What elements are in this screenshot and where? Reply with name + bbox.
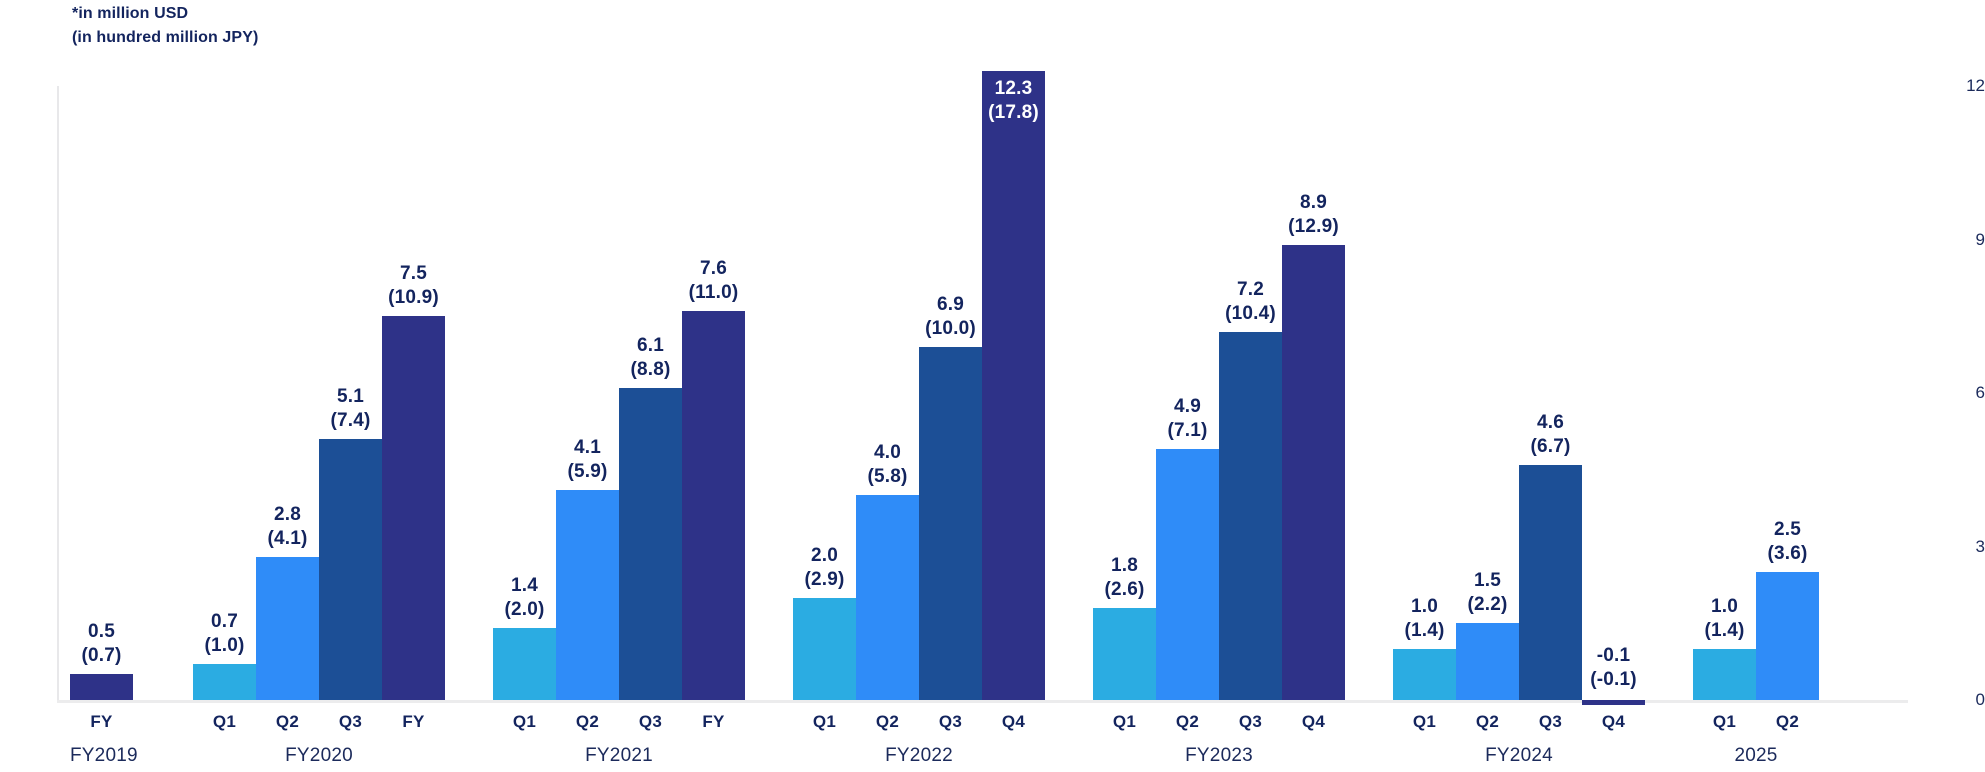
x-tick-FY2024-Q4: Q4	[1582, 712, 1645, 732]
bar-value-usd: 7.6	[689, 257, 739, 281]
bar-value-usd: 2.8	[267, 503, 307, 527]
bar-FY2023-Q2[interactable]: 4.9(7.1)	[1156, 449, 1219, 700]
y-axis-tick-0: 0	[1945, 690, 1985, 710]
bar-value-label: 4.1(5.9)	[567, 436, 607, 484]
bar-value-usd: 1.0	[1704, 595, 1744, 619]
bar-2025-Q2[interactable]: 2.5(3.6)	[1756, 572, 1819, 700]
group-label-FY2023: FY2023	[1093, 745, 1345, 767]
bar-FY2021-FY[interactable]: 7.6(11.0)	[682, 311, 745, 700]
bar-value-usd: 4.6	[1530, 411, 1570, 435]
bar-value-usd: 0.5	[81, 620, 121, 644]
bar-value-label: 2.0(2.9)	[804, 544, 844, 592]
bar-value-jpy: (10.4)	[1225, 302, 1276, 326]
bar-value-jpy: (8.8)	[630, 358, 670, 382]
x-tick-FY2022-Q3: Q3	[919, 712, 982, 732]
bar-value-label: -0.1(-0.1)	[1590, 644, 1637, 692]
x-tick-2025-Q2: Q2	[1756, 712, 1819, 732]
y-axis-tick-6: 6	[1945, 383, 1985, 403]
bar-FY2020-Q1[interactable]: 0.7(1.0)	[193, 664, 256, 700]
bar-value-jpy: (7.4)	[330, 409, 370, 433]
bar-FY2023-Q3[interactable]: 7.2(10.4)	[1219, 332, 1282, 700]
x-tick-FY2023-Q1: Q1	[1093, 712, 1156, 732]
y-axis-tick-12: 12	[1945, 76, 1985, 96]
bar-value-label: 4.6(6.7)	[1530, 411, 1570, 459]
bar-value-usd: 8.9	[1288, 191, 1339, 215]
x-tick-FY2024-Q3: Q3	[1519, 712, 1582, 732]
x-tick-FY2021-FY: FY	[682, 712, 745, 732]
bar-value-label: 1.8(2.6)	[1104, 554, 1144, 602]
x-tick-FY2022-Q1: Q1	[793, 712, 856, 732]
bar-value-jpy: (5.9)	[567, 460, 607, 484]
bar-value-jpy: (4.1)	[267, 527, 307, 551]
bar-value-jpy: (5.8)	[867, 465, 907, 489]
bar-FY2021-Q2[interactable]: 4.1(5.9)	[556, 490, 619, 700]
group-label-FY2020: FY2020	[193, 745, 445, 767]
group-label-FY2021: FY2021	[493, 745, 745, 767]
bar-FY2024-Q4[interactable]: -0.1(-0.1)	[1582, 700, 1645, 705]
bar-value-usd: 7.2	[1225, 278, 1276, 302]
bar-value-jpy: (11.0)	[689, 281, 739, 305]
x-tick-FY2022-Q4: Q4	[982, 712, 1045, 732]
bar-value-usd: -0.1	[1590, 644, 1637, 668]
bar-FY2020-Q3[interactable]: 5.1(7.4)	[319, 439, 382, 700]
x-tick-2025-Q1: Q1	[1693, 712, 1756, 732]
bar-value-usd: 4.1	[567, 436, 607, 460]
bar-value-label: 1.0(1.4)	[1404, 595, 1444, 643]
bar-value-label: 7.2(10.4)	[1225, 278, 1276, 326]
group-label-FY2024: FY2024	[1393, 745, 1645, 767]
y-axis-tick-9: 9	[1945, 230, 1985, 250]
group-label-FY2019: FY2019	[70, 745, 133, 767]
bar-value-label: 4.9(7.1)	[1167, 395, 1207, 443]
bar-value-usd: 1.0	[1404, 595, 1444, 619]
bar-value-jpy: (0.7)	[81, 644, 121, 668]
bar-FY2022-Q4[interactable]: 12.3(17.8)	[982, 71, 1045, 700]
bar-value-jpy: (10.0)	[925, 317, 976, 341]
bar-value-usd: 4.0	[867, 441, 907, 465]
bar-FY2020-FY[interactable]: 7.5(10.9)	[382, 316, 445, 700]
x-tick-FY2024-Q1: Q1	[1393, 712, 1456, 732]
group-label-FY2022: FY2022	[793, 745, 1045, 767]
bar-value-usd: 1.5	[1467, 569, 1507, 593]
bar-FY2023-Q4[interactable]: 8.9(12.9)	[1282, 245, 1345, 700]
bar-value-label: 6.9(10.0)	[925, 293, 976, 341]
x-tick-FY2020-FY: FY	[382, 712, 445, 732]
bar-value-usd: 1.8	[1104, 554, 1144, 578]
bar-value-usd: 0.7	[204, 610, 244, 634]
bar-FY2021-Q3[interactable]: 6.1(8.8)	[619, 388, 682, 700]
bar-value-jpy: (1.4)	[1404, 619, 1444, 643]
y-axis-tick-3: 3	[1945, 537, 1985, 557]
bar-value-label: 7.6(11.0)	[689, 257, 739, 305]
bar-FY2020-Q2[interactable]: 2.8(4.1)	[256, 557, 319, 700]
bar-FY2021-Q1[interactable]: 1.4(2.0)	[493, 628, 556, 700]
bar-FY2023-Q1[interactable]: 1.8(2.6)	[1093, 608, 1156, 700]
bar-FY2024-Q2[interactable]: 1.5(2.2)	[1456, 623, 1519, 700]
x-tick-FY2023-Q2: Q2	[1156, 712, 1219, 732]
bar-value-label: 0.5(0.7)	[81, 620, 121, 668]
bar-value-jpy: (-0.1)	[1590, 668, 1637, 692]
x-tick-FY2019-FY: FY	[70, 712, 133, 732]
bar-value-label: 12.3(17.8)	[988, 77, 1039, 125]
x-tick-FY2021-Q2: Q2	[556, 712, 619, 732]
bar-FY2019-FY[interactable]: 0.5(0.7)	[70, 674, 133, 700]
bar-value-jpy: (6.7)	[1530, 435, 1570, 459]
bar-value-usd: 6.9	[925, 293, 976, 317]
bar-FY2024-Q3[interactable]: 4.6(6.7)	[1519, 465, 1582, 700]
bar-value-jpy: (2.9)	[804, 568, 844, 592]
bar-value-usd: 6.1	[630, 334, 670, 358]
bar-value-jpy: (10.9)	[388, 286, 439, 310]
x-tick-FY2022-Q2: Q2	[856, 712, 919, 732]
bar-value-jpy: (1.0)	[204, 634, 244, 658]
x-tick-FY2020-Q1: Q1	[193, 712, 256, 732]
bar-2025-Q1[interactable]: 1.0(1.4)	[1693, 649, 1756, 700]
bar-value-jpy: (7.1)	[1167, 419, 1207, 443]
bar-value-usd: 7.5	[388, 262, 439, 286]
bar-value-usd: 4.9	[1167, 395, 1207, 419]
bar-value-label: 4.0(5.8)	[867, 441, 907, 489]
bar-value-usd: 2.5	[1767, 518, 1807, 542]
bar-chart-plot: 036912 0.5(0.7)0.7(1.0)2.8(4.1)5.1(7.4)7…	[0, 0, 1985, 772]
bar-value-jpy: (2.0)	[504, 598, 544, 622]
bar-FY2022-Q1[interactable]: 2.0(2.9)	[793, 598, 856, 700]
group-label-2025: 2025	[1693, 745, 1819, 767]
bar-value-label: 5.1(7.4)	[330, 385, 370, 433]
x-tick-FY2024-Q2: Q2	[1456, 712, 1519, 732]
bar-value-label: 1.0(1.4)	[1704, 595, 1744, 643]
x-tick-FY2023-Q4: Q4	[1282, 712, 1345, 732]
bar-value-usd: 5.1	[330, 385, 370, 409]
bar-value-jpy: (2.6)	[1104, 578, 1144, 602]
bar-value-jpy: (17.8)	[988, 101, 1039, 125]
bar-value-jpy: (1.4)	[1704, 619, 1744, 643]
chart-page: *in million USD (in hundred million JPY)…	[0, 0, 1985, 772]
bar-value-label: 8.9(12.9)	[1288, 191, 1339, 239]
bar-value-label: 6.1(8.8)	[630, 334, 670, 382]
x-tick-FY2021-Q3: Q3	[619, 712, 682, 732]
bar-value-usd: 12.3	[988, 77, 1039, 101]
bar-FY2022-Q2[interactable]: 4.0(5.8)	[856, 495, 919, 700]
bar-value-label: 0.7(1.0)	[204, 610, 244, 658]
x-tick-FY2021-Q1: Q1	[493, 712, 556, 732]
bar-value-label: 2.8(4.1)	[267, 503, 307, 551]
bar-value-usd: 2.0	[804, 544, 844, 568]
bar-FY2024-Q1[interactable]: 1.0(1.4)	[1393, 649, 1456, 700]
bar-value-label: 2.5(3.6)	[1767, 518, 1807, 566]
bar-value-label: 1.5(2.2)	[1467, 569, 1507, 617]
x-tick-FY2020-Q2: Q2	[256, 712, 319, 732]
bar-value-usd: 1.4	[504, 574, 544, 598]
bar-value-label: 1.4(2.0)	[504, 574, 544, 622]
bar-value-jpy: (12.9)	[1288, 215, 1339, 239]
bar-value-jpy: (3.6)	[1767, 542, 1807, 566]
bar-value-label: 7.5(10.9)	[388, 262, 439, 310]
bar-FY2022-Q3[interactable]: 6.9(10.0)	[919, 347, 982, 700]
x-tick-FY2020-Q3: Q3	[319, 712, 382, 732]
x-tick-FY2023-Q3: Q3	[1219, 712, 1282, 732]
bar-value-jpy: (2.2)	[1467, 593, 1507, 617]
y-axis-line	[57, 86, 59, 700]
